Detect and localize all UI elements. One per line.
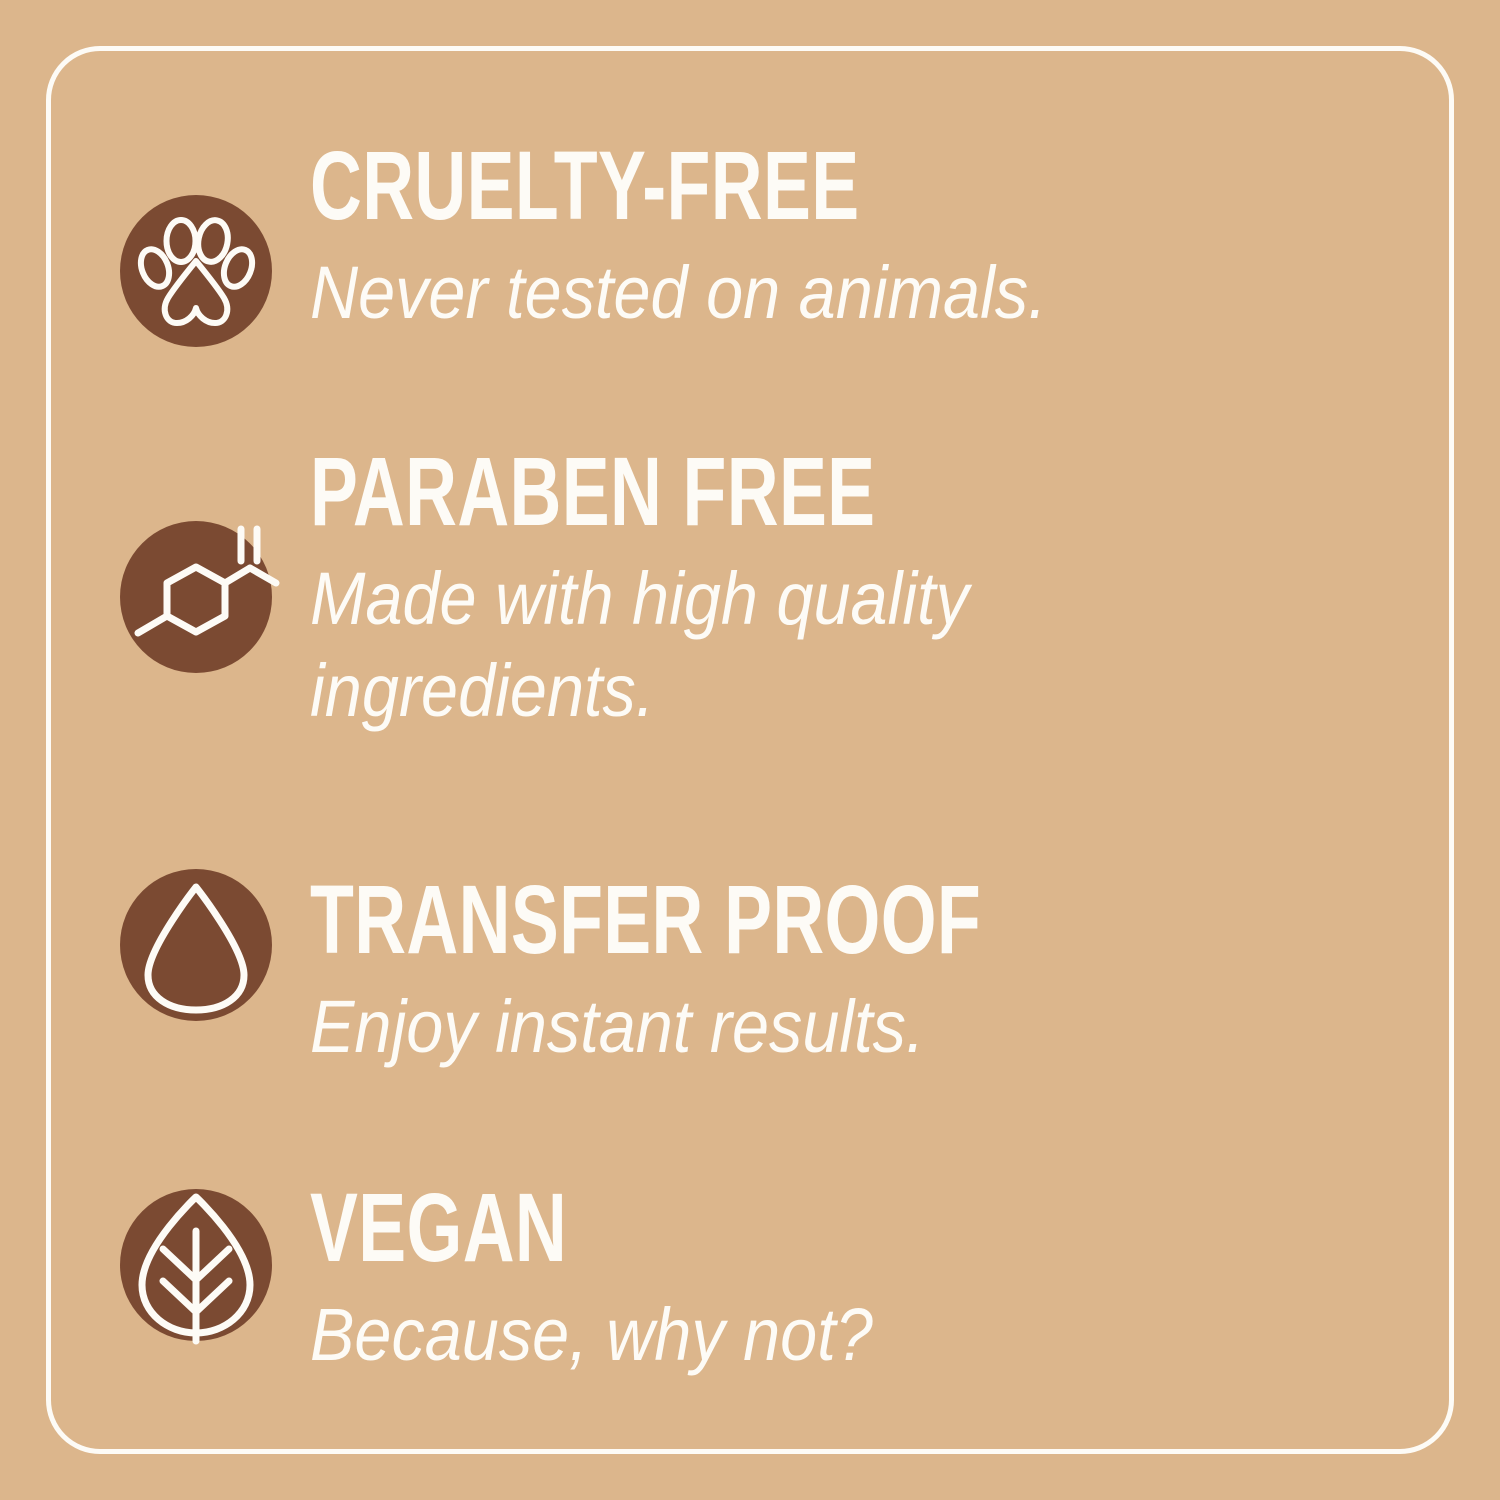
feature-headline: TRANSFER PROOF xyxy=(310,872,1139,967)
feature-body: Never tested on animals. xyxy=(310,247,1318,339)
feature-body: Made with high quality ingredients. xyxy=(310,553,1318,737)
feature-headline: CRUELTY-FREE xyxy=(310,138,1139,233)
feature-text-block: VEGAN Because, why not? xyxy=(310,1180,1430,1381)
feature-body: Because, why not? xyxy=(310,1289,1318,1381)
leaf-icon xyxy=(120,1189,272,1341)
feature-text-block: CRUELTY-FREE Never tested on animals. xyxy=(310,138,1430,339)
feature-badge-card: CRUELTY-FREE Never tested on animals. xyxy=(0,0,1500,1500)
feature-headline: PARABEN FREE xyxy=(310,444,1139,539)
paw-print-icon xyxy=(120,195,272,347)
feature-headline: VEGAN xyxy=(310,1180,1139,1275)
feature-text-block: TRANSFER PROOF Enjoy instant results. xyxy=(310,872,1430,1073)
feature-body: Enjoy instant results. xyxy=(310,981,1318,1073)
feature-list: CRUELTY-FREE Never tested on animals. xyxy=(0,0,1500,1500)
feature-text-block: PARABEN FREE Made with high quality ingr… xyxy=(310,444,1430,737)
water-drop-icon xyxy=(120,869,272,1021)
molecule-icon xyxy=(120,521,272,673)
